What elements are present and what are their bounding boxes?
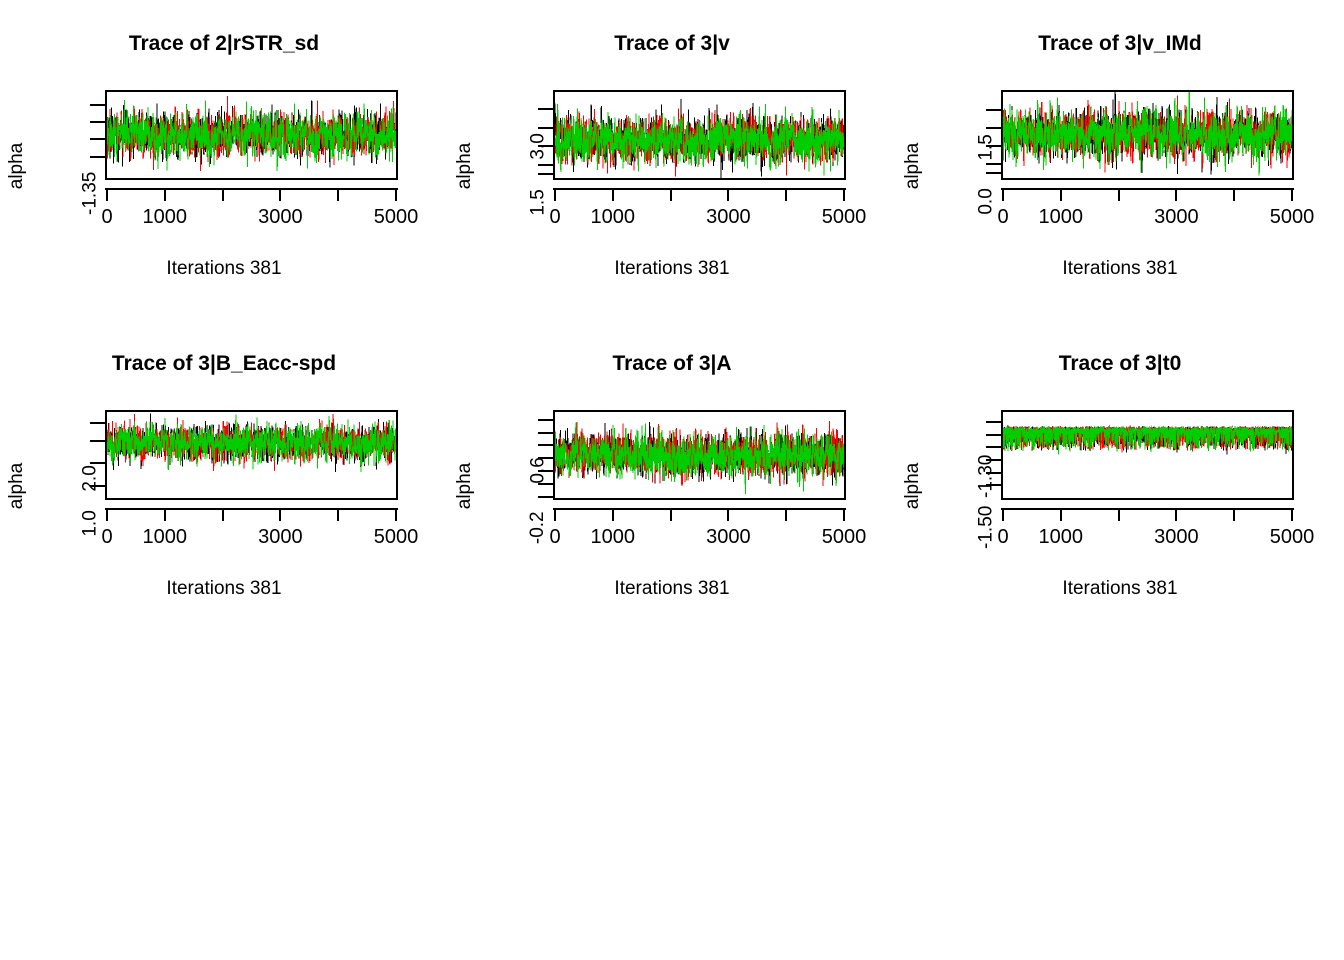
y-tick-labels: -1.35 — [46, 90, 90, 180]
x-tick-mark — [1175, 188, 1177, 201]
y-tick-mark — [986, 421, 1001, 423]
x-tick-label: 3000 — [258, 526, 303, 549]
y-tick-mark — [90, 104, 105, 106]
y-tick-mark — [538, 419, 553, 421]
panel-title: Trace of 3|A — [448, 352, 896, 376]
panel-title: Trace of 3|t0 — [896, 352, 1344, 376]
x-tick-mark — [1002, 508, 1004, 521]
y-axis-label: alpha — [454, 121, 476, 211]
x-axis-label: Iterations 381 — [896, 578, 1344, 600]
x-tick-label: 1000 — [1039, 526, 1084, 549]
y-axis-ticks — [538, 410, 553, 500]
trace-panel: Trace of 2|rSTR_sdalphaIterations 381-1.… — [0, 20, 448, 340]
plot-area — [105, 410, 398, 500]
x-tick-mark — [1060, 508, 1062, 521]
x-tick-label: 1000 — [591, 206, 636, 229]
y-tick-label: 1.0 — [79, 510, 101, 536]
x-tick-label: 5000 — [822, 206, 867, 229]
panel-title: Trace of 3|B_Eacc-spd — [0, 352, 448, 376]
x-axis-line — [1001, 188, 1294, 190]
x-tick-mark — [106, 508, 108, 521]
x-axis-line — [1001, 508, 1294, 510]
plot-area — [1001, 410, 1294, 500]
x-tick-mark — [1118, 508, 1120, 521]
plot-area — [553, 410, 846, 500]
panel-title: Trace of 3|v — [448, 32, 896, 56]
x-tick-mark — [1060, 188, 1062, 201]
panel-title: Trace of 2|rSTR_sd — [0, 32, 448, 56]
x-tick-label: 5000 — [374, 206, 419, 229]
x-axis-label: Iterations 381 — [896, 258, 1344, 280]
y-tick-labels: 1.50.0 — [942, 90, 986, 180]
x-axis-label: Iterations 381 — [0, 578, 448, 600]
x-tick-label: 1000 — [143, 526, 188, 549]
x-tick-mark — [337, 508, 339, 521]
y-axis-ticks — [90, 90, 105, 180]
x-tick-label: 0 — [101, 526, 112, 549]
trace-plot-grid: Trace of 2|rSTR_sdalphaIterations 381-1.… — [0, 0, 1344, 960]
x-tick-mark — [1233, 188, 1235, 201]
x-tick-mark — [554, 188, 556, 201]
x-tick-label: 0 — [997, 526, 1008, 549]
y-axis-label: alpha — [6, 121, 28, 211]
y-tick-mark — [90, 138, 105, 140]
x-tick-label: 5000 — [1270, 206, 1315, 229]
y-axis-label: alpha — [454, 441, 476, 531]
x-tick-labels: 0100030005000 — [1001, 526, 1294, 552]
x-axis-label: Iterations 381 — [448, 258, 896, 280]
y-tick-label: 1.5 — [975, 134, 997, 160]
y-tick-mark — [538, 444, 553, 446]
x-tick-label: 3000 — [258, 206, 303, 229]
y-tick-label: 3.0 — [527, 133, 549, 159]
x-tick-label: 5000 — [822, 526, 867, 549]
trace-panel: Trace of 3|valphaIterations 3813.01.5010… — [448, 20, 896, 340]
x-tick-label: 1000 — [143, 206, 188, 229]
y-tick-labels: 3.01.5 — [494, 90, 538, 180]
y-tick-mark — [986, 172, 1001, 174]
x-tick-label: 3000 — [1154, 206, 1199, 229]
x-tick-mark — [612, 188, 614, 201]
x-tick-mark — [670, 508, 672, 521]
x-tick-mark — [843, 508, 845, 521]
y-tick-label: -0.2 — [527, 511, 549, 544]
x-tick-labels: 0100030005000 — [105, 206, 398, 232]
trace-line — [1003, 426, 1292, 454]
x-tick-label: 1000 — [1039, 206, 1084, 229]
x-tick-mark — [337, 188, 339, 201]
x-axis-line — [105, 508, 398, 510]
x-tick-mark — [554, 508, 556, 521]
x-tick-mark — [670, 188, 672, 201]
y-tick-mark — [90, 462, 105, 464]
y-tick-label: 0.0 — [975, 188, 997, 214]
y-tick-mark — [90, 156, 105, 158]
x-tick-label: 1000 — [591, 526, 636, 549]
y-tick-mark — [986, 163, 1001, 165]
trace-panel: Trace of 3|t0alphaIterations 381-1.30-1.… — [896, 340, 1344, 660]
x-tick-mark — [843, 188, 845, 201]
x-tick-mark — [222, 508, 224, 521]
x-axis-label: Iterations 381 — [0, 258, 448, 280]
y-tick-mark — [986, 109, 1001, 111]
y-tick-mark — [538, 164, 553, 166]
x-tick-label: 3000 — [706, 206, 751, 229]
x-tick-mark — [395, 508, 397, 521]
y-tick-label: 2.0 — [79, 465, 101, 491]
x-tick-mark — [1175, 508, 1177, 521]
x-tick-mark — [785, 188, 787, 201]
y-tick-mark — [90, 440, 105, 442]
panel-title: Trace of 3|v_IMd — [896, 32, 1344, 56]
y-tick-mark — [90, 121, 105, 123]
x-axis-line — [105, 188, 398, 190]
y-tick-mark — [90, 422, 105, 424]
y-tick-mark — [538, 432, 553, 434]
trace-panel: Trace of 3|B_Eacc-spdalphaIterations 381… — [0, 340, 448, 660]
y-tick-labels: 2.01.0 — [46, 410, 90, 500]
x-tick-labels: 0100030005000 — [105, 526, 398, 552]
y-tick-labels: -1.30-1.50 — [942, 410, 986, 500]
x-tick-mark — [1291, 508, 1293, 521]
plot-area — [553, 90, 846, 180]
y-tick-mark — [538, 173, 553, 175]
x-tick-labels: 0100030005000 — [1001, 206, 1294, 232]
x-tick-label: 0 — [997, 206, 1008, 229]
x-tick-labels: 0100030005000 — [553, 526, 846, 552]
y-tick-mark — [986, 434, 1001, 436]
plot-area — [105, 90, 398, 180]
x-tick-label: 0 — [549, 526, 560, 549]
y-tick-labels: 0.6-0.2 — [494, 410, 538, 500]
x-axis-label: Iterations 381 — [448, 578, 896, 600]
x-tick-mark — [727, 508, 729, 521]
x-tick-mark — [106, 188, 108, 201]
x-tick-label: 0 — [101, 206, 112, 229]
y-tick-label: -1.30 — [975, 455, 997, 498]
trace-panel: Trace of 3|v_IMdalphaIterations 3811.50.… — [896, 20, 1344, 340]
y-axis-label: alpha — [902, 121, 924, 211]
y-tick-label: 1.5 — [527, 189, 549, 215]
x-tick-mark — [727, 188, 729, 201]
x-tick-label: 0 — [549, 206, 560, 229]
x-tick-label: 3000 — [1154, 526, 1199, 549]
x-axis-line — [553, 188, 846, 190]
x-tick-mark — [279, 188, 281, 201]
x-tick-mark — [1002, 188, 1004, 201]
x-axis-line — [553, 508, 846, 510]
x-tick-mark — [395, 188, 397, 201]
x-tick-mark — [1291, 188, 1293, 201]
y-tick-label: 0.6 — [527, 457, 549, 483]
x-tick-mark — [612, 508, 614, 521]
plot-area — [1001, 90, 1294, 180]
y-axis-label: alpha — [6, 441, 28, 531]
x-tick-mark — [1233, 508, 1235, 521]
y-tick-mark — [538, 108, 553, 110]
x-tick-label: 5000 — [374, 526, 419, 549]
y-tick-label: -1.50 — [975, 505, 997, 548]
x-tick-mark — [164, 508, 166, 521]
x-tick-label: 3000 — [706, 526, 751, 549]
x-tick-mark — [785, 508, 787, 521]
y-tick-label: -1.35 — [79, 172, 101, 215]
x-tick-mark — [222, 188, 224, 201]
y-tick-mark — [538, 127, 553, 129]
x-tick-label: 5000 — [1270, 526, 1315, 549]
x-tick-labels: 0100030005000 — [553, 206, 846, 232]
trace-panel: Trace of 3|AalphaIterations 3810.6-0.201… — [448, 340, 896, 660]
y-tick-mark — [986, 127, 1001, 129]
x-tick-mark — [1118, 188, 1120, 201]
x-tick-mark — [279, 508, 281, 521]
y-tick-mark — [986, 446, 1001, 448]
x-tick-mark — [164, 188, 166, 201]
y-axis-label: alpha — [902, 441, 924, 531]
y-tick-mark — [538, 496, 553, 498]
